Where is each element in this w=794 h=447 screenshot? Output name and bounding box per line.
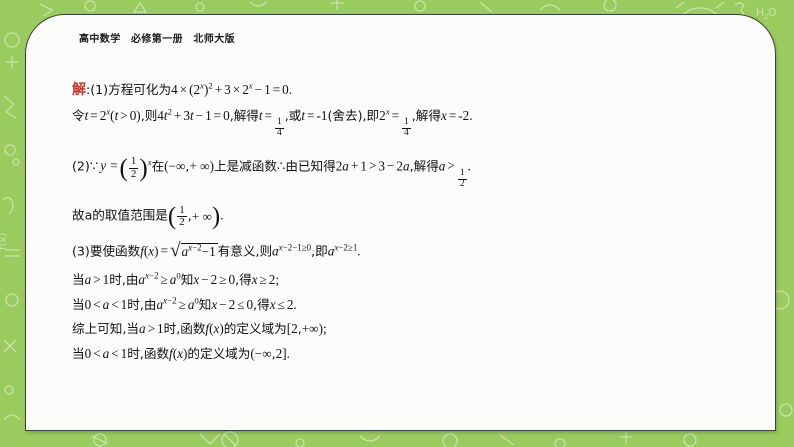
text-let: 令: [72, 108, 85, 123]
num-4b: 4: [157, 108, 164, 123]
num-4: 4: [171, 82, 178, 97]
text-when-1: 当: [72, 272, 85, 287]
sup-2-5: 2: [172, 295, 176, 305]
greater-than-1: >: [118, 108, 129, 123]
big-paren-open: (: [120, 159, 128, 179]
fraction-one-quarter-2: 14: [402, 118, 411, 139]
text-time-3: 时: [164, 321, 177, 336]
text-when-2: 当: [72, 297, 85, 312]
solution-line-6: 当a>1时,由ax−2≥a0知x−2≥0,得x≥2;: [72, 273, 745, 287]
fraction-one-quarter-1: 14: [275, 118, 284, 139]
le-sign-2: ≤: [276, 297, 287, 312]
text-for-function: 要使函数: [90, 243, 140, 258]
times-sign-2: ×: [231, 82, 242, 97]
solution-line-8: 综上可知,当a>1时,函数f(x)的定义域为[2,+∞);: [72, 322, 745, 336]
text-time-4: 时: [127, 346, 140, 361]
period-1: .: [289, 82, 292, 97]
solution-line-7: 当0<a<1时,由ax−2≥a0知x−2≤0,得x≤2.: [72, 298, 745, 312]
var-t5: t: [259, 108, 263, 123]
num-0: 0: [282, 82, 289, 97]
text-when-4: 当: [72, 346, 85, 361]
big-paren-open-2: (: [168, 207, 176, 227]
semicolon-1: ;: [275, 272, 279, 287]
exponent-x-minus-2-4: x−2: [163, 295, 177, 305]
text-then: 则: [145, 108, 158, 123]
less-than-4: <: [109, 346, 120, 361]
num-2g: 2: [291, 321, 298, 336]
grouped-fraction-half: (12): [120, 156, 148, 180]
var-x-1: x: [441, 108, 447, 123]
text-solve-2: 解得: [416, 108, 441, 123]
pos-infinity-3: +∞: [302, 321, 319, 336]
text-solve-3: 解得: [414, 158, 439, 173]
semicolon-2: ;: [323, 321, 327, 336]
num-3: 3: [224, 82, 231, 97]
text-namely-1: 即: [367, 108, 380, 123]
equals-9: =: [159, 243, 170, 258]
solution-line-5: (3)要使函数f(x)=√ax−2−1有意义,则ax−2−1≥0,即ax−2≥1…: [72, 243, 745, 261]
text-on: 在: [152, 158, 165, 173]
num-1g: 1: [157, 321, 164, 336]
text-namely-2: 即: [315, 243, 328, 258]
num-1c: 1: [360, 158, 367, 173]
num-neg-1: -1: [316, 108, 327, 123]
big-paren-close: ): [139, 159, 147, 179]
num-3c: 3: [378, 158, 385, 173]
text-time-2: 时: [127, 297, 140, 312]
svg-text:O: O: [768, 6, 777, 19]
minus-6: −: [217, 297, 228, 312]
period-5: .: [357, 243, 360, 258]
text-solve-1: 解得: [234, 108, 259, 123]
text-get-2: 得: [257, 297, 270, 312]
denominator-2: 2: [129, 169, 139, 181]
text-from-given: 由已知得: [285, 158, 335, 173]
var-y: y: [98, 158, 108, 173]
neg-infinity-1: −∞: [169, 158, 186, 173]
text-know-2: 知: [199, 297, 212, 312]
num-0c: 0: [223, 108, 230, 123]
exponent-x-minus-2-1: x−2: [188, 242, 202, 252]
part-1-label: (1): [90, 82, 108, 97]
base-2b: 2: [242, 82, 249, 97]
exponent-x-minus-2-minus-1: x−2−1≥0: [279, 242, 312, 252]
page-header: 高中数学 必修第一册 北师大版: [79, 30, 235, 45]
le-sign-1: ≤: [235, 297, 246, 312]
sup-2-4: 2: [154, 271, 158, 281]
text-is-decreasing: 上是减函数: [214, 158, 277, 173]
text-then-2: 则: [259, 243, 272, 258]
minus-sign: −: [253, 82, 264, 97]
num-1: 1: [264, 82, 271, 97]
greater-than-2: >: [367, 158, 378, 173]
numerator-1c: 1: [129, 156, 139, 169]
text-from-2: 由: [144, 297, 157, 312]
plus-2: +: [172, 108, 183, 123]
equals-2: =: [88, 108, 99, 123]
doodle-label-h2o: H: [756, 6, 764, 19]
text-when-3: 当: [126, 321, 139, 336]
slide-canvas: H 2 O f(x) 高中数学 必修第一册 北师大版 解:(1)方程可化为4×(…: [0, 0, 794, 447]
text-know-1: 知: [181, 272, 194, 287]
text-equation-reducible: 方程可化为: [108, 82, 171, 97]
num-neg-2: -2: [458, 108, 469, 123]
num-1d: 1: [209, 244, 216, 259]
less-than-3: <: [91, 346, 102, 361]
denominator-4b: 4: [402, 129, 411, 139]
text-domain-is-2: 的定义域为: [187, 346, 250, 361]
greater-than-5: >: [146, 321, 157, 336]
big-paren-close-2: ): [212, 207, 220, 227]
var-a-1: a: [342, 158, 349, 173]
because-symbol: ∵: [90, 158, 98, 173]
ge-sign-4: ≥: [177, 297, 188, 312]
period-2: .: [469, 108, 472, 123]
solution-line-4: 故a的取值范围是(12,+ ∞).: [72, 205, 745, 229]
part-2-label: (2): [72, 158, 90, 173]
interval-half-infinity: (12,+ ∞): [168, 205, 220, 229]
text-from-1: 由: [126, 272, 139, 287]
content-panel: 高中数学 必修第一册 北师大版 解:(1)方程可化为4×(2x)2+3×2x−1…: [25, 14, 776, 431]
num-2b: 2: [396, 158, 403, 173]
svg-text:2: 2: [764, 13, 768, 21]
solution-line-3: (2)∵y=(12)x在(−∞,+ ∞)上是减函数∴由已知得2a+1>3−2a,…: [72, 156, 745, 189]
text-or: 或: [289, 108, 302, 123]
denominator-2c: 2: [177, 217, 187, 229]
minus-2: −: [194, 108, 205, 123]
minus-5: −: [199, 272, 210, 287]
fraction-one-half-2: 12: [458, 169, 467, 190]
minus-3: −: [385, 158, 396, 173]
times-sign: ×: [178, 82, 189, 97]
num-1b: 1: [205, 108, 212, 123]
less-than-1: <: [91, 297, 102, 312]
fraction-one-half-1: 12: [129, 156, 139, 180]
greater-than-4: >: [91, 272, 102, 287]
equals-5: =: [305, 108, 316, 123]
text-discard: (舍去): [327, 108, 362, 123]
num-3b: 3: [183, 108, 190, 123]
solution-line-1: 解:(1)方程可化为4×(2x)2+3×2x−1=0.: [72, 83, 745, 97]
solution-body: 解:(1)方程可化为4×(2x)2+3×2x−1=0. 令t=2x(t>0),则…: [72, 75, 745, 360]
text-in-summary: 综上可知: [72, 321, 122, 336]
period-6: .: [293, 297, 296, 312]
minus-4: −: [202, 244, 209, 259]
part-3-label: (3): [72, 243, 90, 258]
exponent-x4: x: [386, 107, 390, 117]
ge-sign-2: ≥: [217, 272, 228, 287]
text-domain-is-1: 的定义域为: [224, 321, 287, 336]
var-a-2: a: [403, 158, 410, 173]
text-meaningful: 有意义: [218, 243, 256, 258]
equals-3: =: [212, 108, 223, 123]
period-3: .: [468, 158, 471, 173]
radicand: ax−2−1: [181, 243, 218, 261]
fraction-one-half-3: 12: [177, 205, 187, 229]
plus-sign: +: [213, 82, 224, 97]
neg-infinity-2: −∞: [255, 346, 272, 361]
period-7: .: [287, 346, 290, 361]
exponent-x-minus-2-3: x−2: [145, 271, 159, 281]
equals-sign: =: [271, 82, 282, 97]
plus-3: +: [349, 158, 360, 173]
denominator-2b: 2: [458, 180, 467, 190]
text-time-1: 时: [109, 272, 122, 287]
period-4: .: [220, 207, 223, 222]
var-x-6: x: [270, 297, 276, 312]
text-range-of-a: 故a的取值范围是: [72, 207, 168, 222]
greater-than-3: >: [445, 158, 456, 173]
denominator-4: 4: [275, 129, 284, 139]
pos-infinity-1: + ∞: [189, 158, 209, 173]
radical-sign: √: [170, 242, 181, 260]
ge-sign-3: ≥: [258, 272, 269, 287]
var-a-13: a: [139, 321, 146, 336]
text-get-1: 得: [239, 272, 252, 287]
equals-6: =: [390, 108, 401, 123]
pos-infinity-2: + ∞: [192, 210, 212, 223]
equals-4: =: [263, 108, 274, 123]
text-function-1: 函数: [180, 321, 205, 336]
square-root-expression: √ax−2−1: [170, 243, 218, 261]
svg-text:f(x): f(x): [0, 233, 9, 250]
solution-marker: 解: [72, 82, 86, 98]
equals-8: =: [108, 158, 119, 173]
exponent-x-minus-2-2: x−2≥1: [334, 242, 357, 252]
var-x-4: x: [252, 272, 258, 287]
text-function-2: 函数: [144, 346, 169, 361]
solution-line-2: 令t=2x(t>0),则4t2+3t−1=0,解得t=14,或t=-1(舍去),…: [72, 109, 745, 139]
base-2d: 2: [379, 108, 386, 123]
solution-line-9: 当0<a<1时,函数f(x)的定义域为(−∞,2].: [72, 347, 745, 361]
less-than-2: <: [109, 297, 120, 312]
var-a-5: a: [272, 243, 279, 258]
equals-7: =: [447, 108, 458, 123]
paren-close-3: ): [154, 243, 158, 258]
ge-sign-1: ≥: [159, 272, 170, 287]
